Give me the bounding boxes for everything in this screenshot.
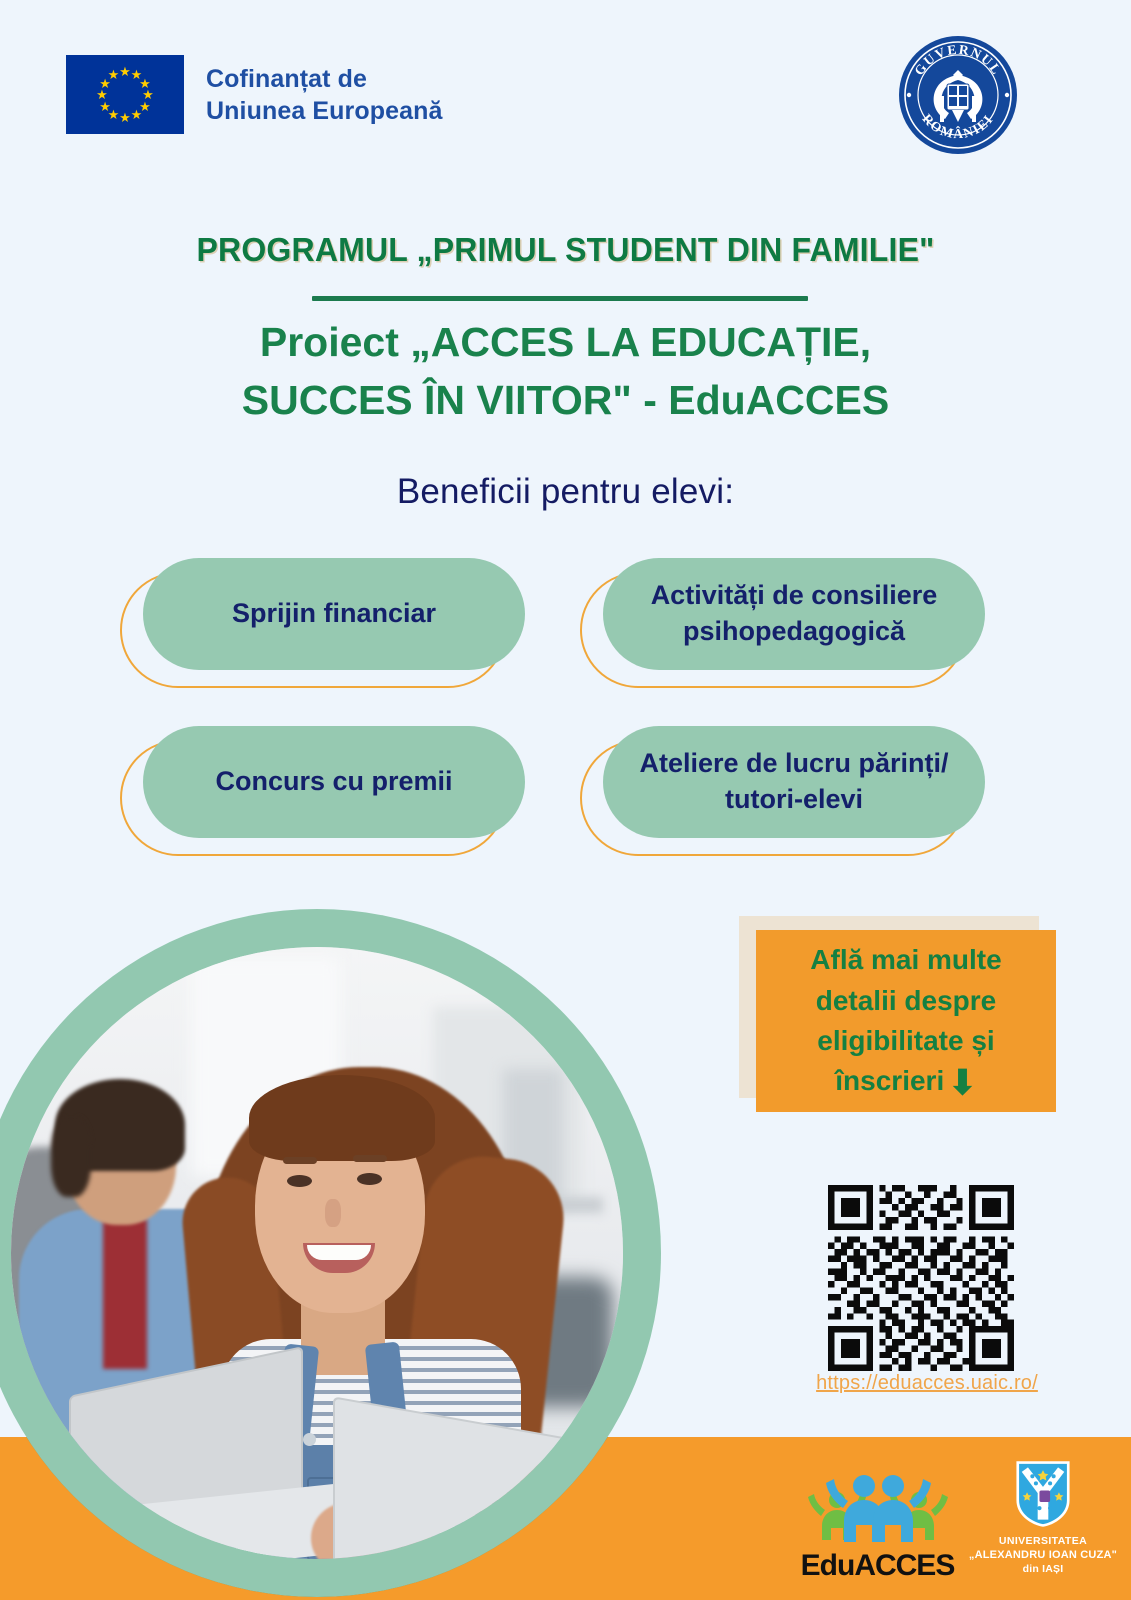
students-photo	[11, 947, 623, 1559]
photo-girl-overall-button	[303, 1433, 316, 1446]
uaic-line3: din IAȘI	[963, 1563, 1123, 1576]
photo-boy-shirt	[103, 1219, 147, 1369]
eduacces-people-icon	[800, 1470, 955, 1547]
eduacces-logo-word: EduACCES	[800, 1549, 955, 1583]
uaic-line1: UNIVERSITATEA	[963, 1535, 1123, 1548]
project-title-line1: Proiect „ACCES LA EDUCAȚIE,	[0, 313, 1131, 371]
title-divider	[312, 296, 808, 301]
eu-funding-logo: ★★★★★★★★★★★★ Cofinanțat de Uniunea Europ…	[66, 55, 442, 134]
project-title: Proiect „ACCES LA EDUCAȚIE, SUCCES ÎN VI…	[0, 313, 1131, 429]
qr-code-icon[interactable]	[828, 1185, 1014, 1371]
eduacces-logo: EduACCES	[800, 1470, 955, 1580]
benefit-pill-sprijin-financiar: Sprijin financiar	[120, 572, 502, 684]
project-url-link[interactable]: https://eduacces.uaic.ro/	[756, 1372, 1098, 1395]
project-title-line2: SUCCES ÎN VIITOR" - EduACCES	[0, 371, 1131, 429]
benefit-pill-label: Concurs cu premii	[143, 726, 525, 838]
benefit-pill-concurs: Concurs cu premii	[120, 740, 502, 852]
students-photo-circle	[0, 909, 661, 1597]
benefit-pill-consiliere: Activități de consiliere psihopedagogică	[580, 572, 962, 684]
eu-star-icon: ★	[107, 68, 120, 81]
eu-funding-text: Cofinanțat de Uniunea Europeană	[206, 63, 442, 127]
benefit-pill-ateliere: Ateliere de lucru părinți/ tutori-elevi	[580, 740, 962, 852]
photo-girl-fringe	[249, 1075, 435, 1161]
benefit-pill-label: Ateliere de lucru părinți/ tutori-elevi	[603, 726, 985, 838]
programme-title: PROGRAMUL „PRIMUL STUDENT DIN FAMILIE"	[17, 231, 1114, 269]
eu-funding-line1: Cofinanțat de	[206, 63, 442, 95]
photo-girl-eye	[357, 1173, 382, 1185]
photo-boy-hair	[51, 1117, 91, 1197]
photo-girl-eyebrow	[353, 1155, 387, 1162]
benefit-pill-label: Sprijin financiar	[143, 558, 525, 670]
poster-root: ★★★★★★★★★★★★ Cofinanțat de Uniunea Europ…	[0, 0, 1131, 1600]
benefits-heading: Beneficii pentru elevi:	[0, 472, 1131, 512]
cta-box[interactable]: Află mai multe detalii despre eligibilit…	[756, 930, 1056, 1112]
romanian-government-seal-icon: GUVERNUL ROMÂNIEI	[897, 34, 1019, 156]
eu-star-icon: ★	[119, 111, 132, 124]
uaic-logo: UNIVERSITATEA „ALEXANDRU IOAN CUZA" din …	[963, 1458, 1123, 1586]
uaic-line2: „ALEXANDRU IOAN CUZA"	[963, 1548, 1123, 1562]
eu-funding-line2: Uniunea Europeană	[206, 95, 442, 127]
eu-star-icon: ★	[130, 108, 143, 121]
down-arrow-icon: ⬇	[948, 1066, 977, 1100]
photo-girl-nose	[325, 1199, 341, 1227]
photo-girl-eyebrow	[283, 1157, 317, 1164]
uaic-shield-icon	[963, 1458, 1123, 1535]
photo-girl-eye	[287, 1175, 312, 1187]
eu-flag-icon: ★★★★★★★★★★★★	[66, 55, 184, 134]
benefit-pill-label: Activități de consiliere psihopedagogică	[603, 558, 985, 670]
